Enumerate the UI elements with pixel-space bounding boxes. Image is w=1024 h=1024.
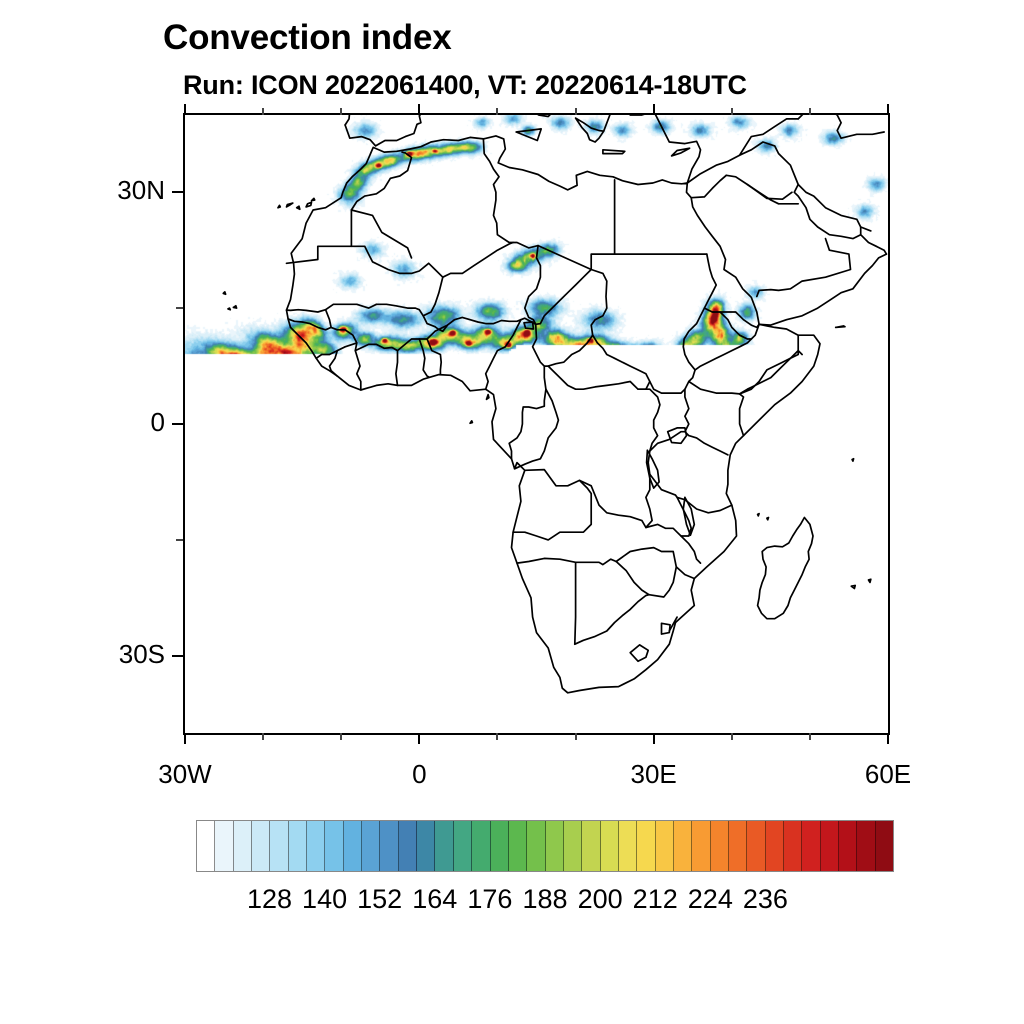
x-axis-label: 30E [584,759,724,790]
border-path [704,308,759,327]
colorbar-cell [509,821,527,871]
border-path [351,246,442,277]
border-path [548,366,650,389]
border-path [288,310,331,330]
y-axis-label: 0 [151,407,165,438]
border-path [720,312,751,339]
border-path [576,118,604,142]
border-path [758,518,813,619]
border-path [398,331,436,350]
x-tick-major [887,733,889,744]
border-path [223,292,225,294]
border-path [525,389,660,527]
colorbar-cell [766,821,784,871]
colorbar-cell [747,821,765,871]
colorbar-cell [582,821,600,871]
x-axis-label: 30W [115,759,255,790]
border-path [351,210,411,258]
colorbar-cell [399,821,417,871]
x-tick-major-top [887,104,889,115]
border-path [487,395,489,400]
border-path [297,206,300,209]
border-path [536,180,615,324]
border-path [517,558,616,564]
border-path [423,277,443,316]
colorbar-cell [215,821,233,871]
border-path [287,304,377,312]
colorbar-cell [619,821,637,871]
colorbar-cell [876,821,893,871]
border-path [798,115,818,119]
border-path [740,119,799,155]
x-tick-major [184,733,186,744]
map-plot-area [183,113,890,735]
x-tick-minor-top [340,108,342,115]
border-path [427,339,441,375]
colorbar [196,820,894,872]
page-subtitle: Run: ICON 2022061400, VT: 20220614-18UTC [183,70,747,101]
border-path [691,175,726,197]
colorbar-cell [197,821,215,871]
colorbar-cell [491,821,509,871]
border-path [685,389,689,432]
border-path [604,115,744,131]
colorbar-cell [307,821,325,871]
border-path [233,306,236,308]
colorbar-cell [234,821,252,871]
border-path [524,322,533,329]
border-path [740,335,799,394]
border-path [757,239,851,297]
border-path [509,366,546,459]
colorbar-cell [729,821,747,871]
colorbar-cell [656,821,674,871]
border-path [278,205,280,207]
colorbar-cell [564,821,582,871]
page-title: Convection index [163,18,452,58]
border-path [513,480,591,540]
x-tick-minor-top [809,108,811,115]
x-tick-minor [575,733,577,740]
colorbar-cell [711,821,729,871]
border-path [852,459,854,461]
colorbar-cell [472,821,490,871]
x-axis-label: 0 [349,759,489,790]
border-path [470,421,472,423]
border-path [443,243,513,278]
x-tick-minor [731,733,733,740]
border-path [747,185,778,204]
colorbar-cell [839,821,857,871]
border-path [228,308,230,310]
x-axis-label: 60E [818,759,958,790]
border-path [836,326,845,328]
border-path [826,115,885,138]
colorbar-cell [821,821,839,871]
border-path [695,324,759,370]
border-path [869,579,871,582]
border-path [516,129,541,141]
colorbar-cell [344,821,362,871]
colorbar-cell [692,821,710,871]
border-path [533,324,593,366]
colorbar-cell [289,821,307,871]
x-tick-minor [340,733,342,740]
colorbar-cell [454,821,472,871]
border-path [851,586,855,589]
x-tick-minor [809,733,811,740]
x-tick-major [418,733,420,744]
y-axis-label: 30S [119,639,165,670]
colorbar-cell [637,821,655,871]
colorbar-cell [784,821,802,871]
border-path [287,210,352,263]
colorbar-cell [325,821,343,871]
colorbar-cell [362,821,380,871]
colorbar-cell [270,821,288,871]
colorbar-cell [601,821,619,871]
border-path [726,175,792,199]
border-path [419,339,428,377]
x-tick-minor [496,733,498,740]
x-tick-minor [262,733,264,740]
border-path [616,548,676,597]
border-path [616,562,649,595]
colorbar-cell [527,821,545,871]
x-tick-major-top [653,104,655,115]
colorbar-cell [380,821,398,871]
border-path [575,595,649,645]
border-path [689,382,744,436]
colorbar-cell [435,821,453,871]
colorbar-cell [674,821,692,871]
border-path [355,344,397,385]
border-path [486,320,521,390]
colorbar-cell [802,821,820,871]
colorbar-cell [857,821,875,871]
border-path [345,115,351,125]
border-path [575,562,576,644]
x-tick-minor-top [731,108,733,115]
border-path [603,150,625,154]
x-tick-major [653,733,655,744]
border-path [668,428,687,443]
border-path [662,623,671,634]
colorbar-cell [252,821,270,871]
border-path [676,567,694,579]
y-axis-label: 30N [117,175,165,206]
weather-map-figure: Convection index Run: ICON 2022061400, V… [0,0,1024,1024]
border-path [312,198,315,200]
border-path [794,185,860,239]
border-path [376,304,535,331]
border-path [630,645,648,661]
y-tick-major [172,423,183,425]
colorbar-tick-label: 236 [705,884,825,915]
border-path [538,246,716,394]
x-tick-minor-top [575,108,577,115]
border-path [483,139,540,324]
y-tick-major [172,191,183,193]
border-path [351,152,411,210]
border-path [861,235,887,254]
border-path [767,518,769,520]
colorbar-cell [417,821,435,871]
border-path [683,497,694,535]
x-tick-minor-top [262,108,264,115]
border-path [306,202,311,207]
x-tick-major-top [418,104,420,115]
x-tick-minor-top [496,108,498,115]
border-path [672,148,690,156]
y-tick-minor [176,307,183,309]
colorbar-cell [546,821,564,871]
border-path [650,432,728,455]
border-path [758,514,760,516]
country-borders-overlay [185,115,888,733]
x-tick-major-top [184,104,186,115]
y-tick-minor [176,539,183,541]
border-path [287,203,293,207]
y-tick-major [172,655,183,657]
